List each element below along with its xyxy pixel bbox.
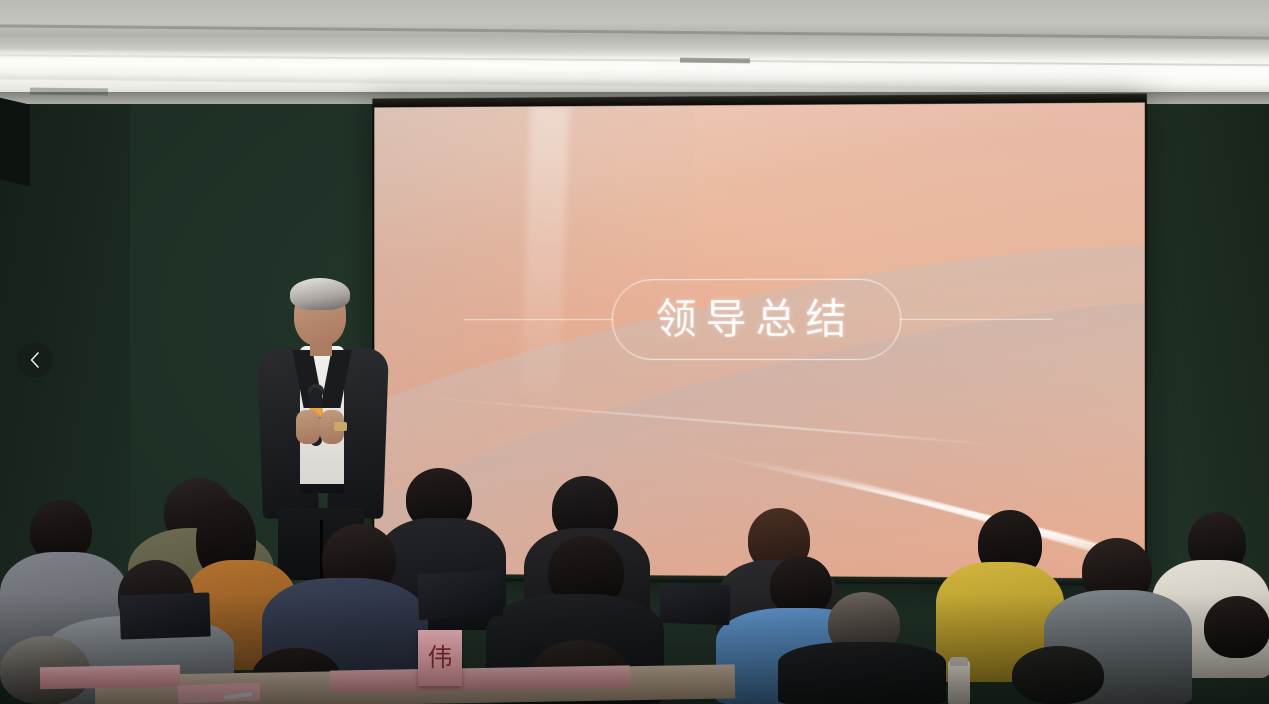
audience-head xyxy=(1204,596,1269,658)
photo-viewer: 领导总结 xyxy=(0,0,1269,704)
water-bottle-cap xyxy=(950,657,968,666)
audience: 伟 xyxy=(0,0,1269,704)
name-placard: 伟 xyxy=(418,630,462,686)
laptop xyxy=(119,592,210,639)
audience-head xyxy=(770,556,832,616)
audience-body xyxy=(778,642,946,704)
laptop xyxy=(659,583,730,625)
chevron-left-icon xyxy=(28,351,42,369)
water-bottle xyxy=(948,660,970,704)
laptop xyxy=(417,570,503,620)
previous-image-button[interactable] xyxy=(17,342,53,378)
audience-head xyxy=(1012,646,1104,704)
table-cloth xyxy=(40,665,180,689)
